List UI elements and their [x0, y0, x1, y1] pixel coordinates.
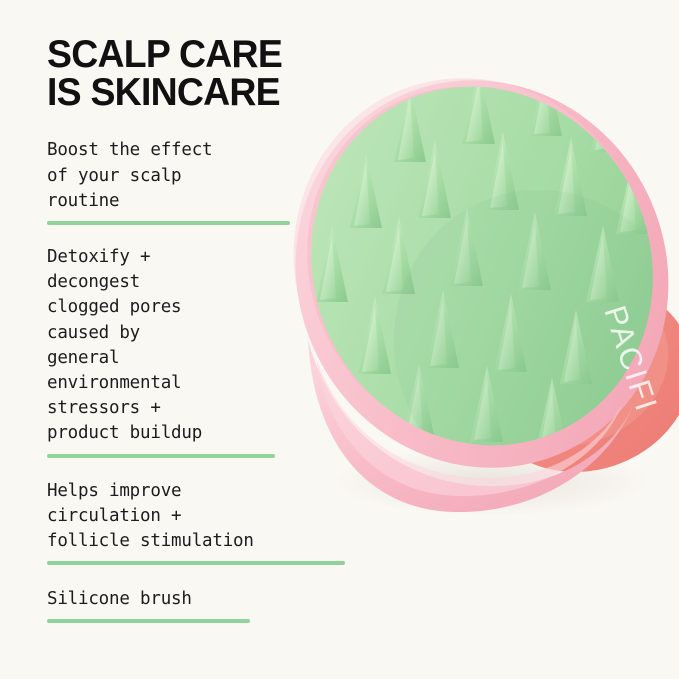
feature-text: Helps improve circulation + follicle sti… [47, 479, 377, 555]
product-shadow [331, 448, 651, 516]
feature-item-helps-circulation: Helps improve circulation + follicle sti… [47, 479, 377, 566]
feature-divider [47, 619, 250, 623]
svg-text:PACIFI: PACIFI [597, 301, 664, 416]
text-column: SCALP CARE IS SKINCARE Boost the effect … [47, 36, 377, 623]
page-title: SCALP CARE IS SKINCARE [47, 36, 364, 112]
product-strap [453, 255, 679, 502]
feature-text: Boost the effect of your scalp routine [47, 138, 377, 214]
feature-text: Silicone brush [47, 587, 377, 612]
product-feature-poster: PACIFI SCALP CARE IS SKINCARE Boost the … [0, 0, 679, 679]
feature-item-detoxify-decongest: Detoxify + decongest clogged pores cause… [47, 245, 377, 458]
feature-item-boost-effect: Boost the effect of your scalp routine [47, 138, 377, 225]
product-brand-text: PACIFI [597, 301, 664, 416]
feature-item-silicone-brush: Silicone brush [47, 587, 377, 623]
feature-text: Detoxify + decongest clogged pores cause… [47, 245, 377, 447]
